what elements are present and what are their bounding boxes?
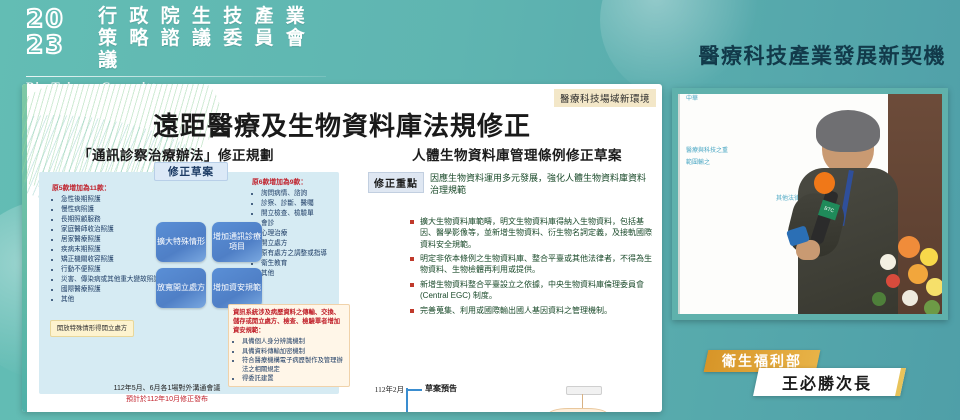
pillar-box-4: 增加資安規範 xyxy=(212,268,262,308)
presentation-slide: 醫療科技場域新環境 遠距醫療及生物資料庫法規修正 「通訊診察治療辦法」修正規劃 … xyxy=(22,84,662,412)
list-item: 衛生教育 xyxy=(261,259,356,269)
timeline-date: 112年2月 xyxy=(362,384,404,395)
speaker-name-text: 王必勝次長 xyxy=(782,370,872,394)
prescription-note: 開放特殊情形得開立處方 xyxy=(50,320,134,337)
list-item: 得委託建置 xyxy=(242,374,345,383)
list-item: 災害、傳染病或其他重大變故照護 xyxy=(61,275,160,285)
list-item: 行動不便照護 xyxy=(61,265,160,275)
foliage xyxy=(924,300,940,316)
flower xyxy=(880,254,896,270)
diagram-node xyxy=(566,386,602,395)
list-telemedicine-items: 原6款增加為9款： 詢問病情、諮詢 診察、診斷、醫囑 開立檢查、檢驗單 會診 心… xyxy=(252,178,356,279)
list-item: 疾病末期照護 xyxy=(61,245,160,255)
logo-cn-line2: 策 略 諮 議 委 員 會 議 xyxy=(98,28,326,72)
security-requirements-note: 資訊系統涉及病歷資料之傳輸、交換、儲存或開立處方、檢查、檢驗單者增加資安規範： … xyxy=(228,304,350,387)
list-item: 診察、診斷、醫囑 xyxy=(261,199,356,209)
list-scenarios-items: 急性後期照護 慢性病照護 長期照顧服務 家庭醫師收治照護 居家醫療照護 疾病末期… xyxy=(52,195,160,305)
logo-divider xyxy=(26,76,326,77)
security-note-items: 具備個人身分辨識機制 具備資料傳輸加密機制 符合醫療機構電子病歷製作及管理辦法之… xyxy=(233,337,345,383)
list-item: 其他 xyxy=(61,295,160,305)
list-item: 新增生物資料整合平臺設立之依據，中央生物資料庫倫理委員會 (Central EG… xyxy=(408,279,652,302)
logo-chinese-name: 行 政 院 生 技 產 業 策 略 諮 議 委 員 會 議 xyxy=(98,6,326,72)
flower xyxy=(926,278,944,296)
speaker-hair xyxy=(816,110,880,152)
list-item: 會診 xyxy=(261,219,356,229)
list-item: 心理治療 xyxy=(261,229,356,239)
keypoint-bullet-list: 擴大生物資料庫範疇，明文生物資料庫得納入生物資料，包括基因、醫學影像等，並新增生… xyxy=(368,216,652,319)
projected-text: 中華 xyxy=(686,96,698,104)
flower-arrangement xyxy=(868,234,948,320)
logo-year-top: 20 xyxy=(26,6,92,31)
slide-corner-badge: 醫療科技場域新環境 xyxy=(554,89,656,107)
amendment-draft-chip: 修正草案 xyxy=(154,162,228,181)
projected-text: 醫療與科技之重 xyxy=(686,148,728,156)
logo-cn-line1: 行 政 院 生 技 產 業 xyxy=(98,6,326,28)
flower xyxy=(920,248,938,266)
list-scenarios-title: 原5款增加為11款： xyxy=(52,184,160,194)
list-item: 原有處方之調整或指導 xyxy=(261,249,356,259)
list-item: 開立處方 xyxy=(261,239,356,249)
projected-text: 範圍輸之 xyxy=(686,160,710,168)
footer-line-1: 112年5月、6月各1場對外溝通會議 xyxy=(72,384,262,395)
slide-left-heading: 「通訊診察治療辦法」修正規劃 xyxy=(78,144,274,164)
list-item: 慢性病照護 xyxy=(61,205,160,215)
list-item: 家庭醫師收治照護 xyxy=(61,225,160,235)
list-item: 明定非依本條例之生物資料庫、整合平臺或其他法律者，不得為生物資料、生物檢體再利用… xyxy=(408,253,652,276)
security-note-head: 資訊系統涉及病歷資料之傳輸、交換、儲存或開立處方、檢查、檢驗單者增加資安規範： xyxy=(233,308,345,335)
legislation-timeline: 112年2月 草案預告 112年6月 辦理對外溝通會議 112年9月 提請衛福部… xyxy=(362,384,482,412)
list-item: 國際醫療照護 xyxy=(61,285,160,295)
foliage xyxy=(872,292,886,306)
list-item: 開立檢查、檢驗單 xyxy=(261,209,356,219)
flower xyxy=(908,264,928,284)
pillar-box-1: 擴大特殊情形 xyxy=(156,222,206,262)
list-item: 矯正機關收容照護 xyxy=(61,255,160,265)
list-item: 其他 xyxy=(261,269,356,279)
diagram-node xyxy=(548,408,608,412)
broadcast-frame: 20 23 行 政 院 生 技 產 業 策 略 諮 議 委 員 會 議 Bio … xyxy=(0,0,960,420)
logo-year-bottom: 23 xyxy=(26,32,92,57)
list-item: 長期照顧服務 xyxy=(61,215,160,225)
list-item: 急性後期照護 xyxy=(61,195,160,205)
timeline-label: 草案預告 xyxy=(425,384,457,394)
keypoint-header: 修正重點 因應生物資料運用多元發展，強化人體生物資料庫資料治理規範 xyxy=(368,172,654,196)
list-item: 具備個人身分辨識機制 xyxy=(242,337,345,346)
list-item: 符合醫療機構電子病歷製作及管理辦法之相關規定 xyxy=(242,356,345,374)
list-item: 擴大生物資料庫範疇，明文生物資料庫得納入生物資料，包括基因、醫學影像等，並新增生… xyxy=(408,216,652,250)
diagram-connector xyxy=(582,394,583,408)
logo-year: 20 23 xyxy=(26,6,92,57)
list-item: 完善蒐集、利用或國際輸出國人基因資料之管理機制。 xyxy=(408,305,652,316)
keypoint-chip: 修正重點 xyxy=(368,172,424,193)
list-item: 居家醫療照護 xyxy=(61,235,160,245)
broadcast-session-title: 醫療科技產業發展新契機 xyxy=(699,40,947,70)
timeline-tick xyxy=(406,389,422,391)
microphone-icon xyxy=(814,172,835,194)
conference-logo: 20 23 行 政 院 生 技 產 業 策 略 諮 議 委 員 會 議 Bio … xyxy=(26,6,326,78)
flower xyxy=(886,274,900,288)
speaker-video-feed[interactable]: 中華 醫療與科技之重 範圍輸之 其他法律規定 BTC xyxy=(672,88,948,320)
slide-title: 遠距醫療及生物資料庫法規修正 xyxy=(22,106,662,143)
list-item: 詢問病情、諮詢 xyxy=(261,189,356,199)
pillar-box-3: 放寬開立處方 xyxy=(156,268,206,308)
list-telemedicine-itemlist: 詢問病情、諮詢 診察、診斷、醫囑 開立檢查、檢驗單 會診 心理治療 開立處方 原… xyxy=(252,189,356,279)
slide-right-heading: 人體生物資料庫管理條例修正草案 xyxy=(412,144,622,164)
keypoint-text: 因應生物資料運用多元發展，強化人體生物資料庫資料治理規範 xyxy=(430,172,654,196)
slide-right-column: 修正重點 因應生物資料運用多元發展，強化人體生物資料庫資料治理規範 擴大生物資料… xyxy=(356,164,656,404)
list-scenarios: 原5款增加為11款： 急性後期照護 慢性病照護 長期照顧服務 家庭醫師收治照護 … xyxy=(52,184,160,306)
list-telemedicine-title: 原6款增加為9款： xyxy=(252,178,356,188)
footer-line-2: 預計於112年10月修正發布 xyxy=(72,395,262,406)
left-column-footer: 112年5月、6月各1場對外溝通會議 預計於112年10月修正發布 xyxy=(72,384,262,405)
governance-flow-diagram xyxy=(490,386,658,412)
pillar-box-2: 增加通訊診療項目 xyxy=(212,222,262,262)
speaker-name-plate: 王必勝次長 xyxy=(753,368,906,396)
flower xyxy=(902,290,918,306)
list-item: 具備資料傳輸加密機制 xyxy=(242,347,345,356)
slide-left-column: 修正草案 原5款增加為11款： 急性後期照護 慢性病照護 長期照顧服務 家庭醫師… xyxy=(30,164,348,404)
timeline-entry: 112年2月 草案預告 xyxy=(362,384,457,395)
flower xyxy=(898,236,920,258)
